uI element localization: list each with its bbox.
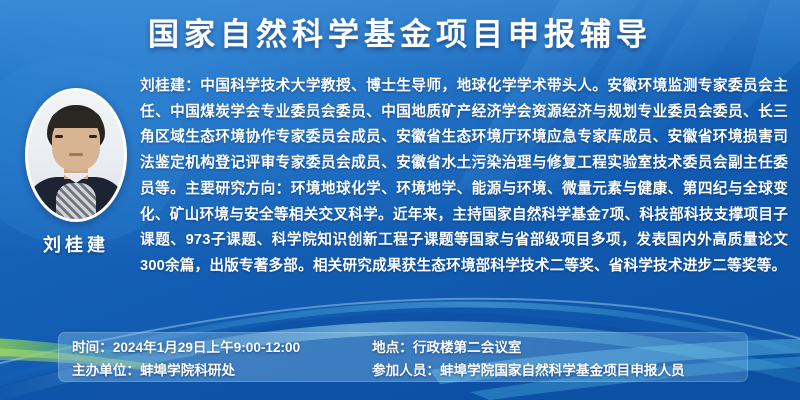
event-participants: 参加人员：蚌埠学院国家自然科学基金项目申报人员: [372, 359, 685, 379]
avatar: [25, 88, 127, 222]
portrait-shirt: [56, 183, 96, 222]
poster-title-band: 国家自然科学基金项目申报辅导: [0, 0, 800, 68]
event-participants-value: 蚌埠学院国家自然科学基金项目申报人员: [440, 363, 685, 378]
portrait-eye-right: [89, 135, 97, 138]
speaker-block: 刘桂建: [17, 88, 135, 257]
speaker-bio: 刘桂建：中国科学技术大学教授、博士生导师，地球化学学术带头人。安徽环境监测专家委…: [140, 74, 788, 280]
event-time-value: 2024年1月29日上午9:00-12:00: [113, 340, 300, 355]
page-title: 国家自然科学基金项目申报辅导: [148, 19, 652, 50]
event-participants-label: 参加人员：: [372, 363, 440, 378]
poster-canvas: 国家自然科学基金项目申报辅导 刘桂建 刘桂建：中国科学技术大学教授、博士生导师，…: [0, 0, 800, 400]
event-time-label: 时间：: [72, 340, 113, 355]
portrait-fringe: [50, 111, 102, 128]
event-organizer-label: 主办单位：: [72, 363, 140, 378]
event-organizer-value: 蚌埠学院科研处: [140, 363, 235, 378]
info-row-time: 时间：2024年1月29日上午9:00-12:00 地点：行政楼第二会议室: [72, 334, 748, 357]
portrait-mouth: [69, 153, 83, 156]
event-info-panel: 时间：2024年1月29日上午9:00-12:00 地点：行政楼第二会议室 主办…: [58, 332, 748, 382]
event-place-value: 行政楼第二会议室: [413, 340, 522, 355]
event-time: 时间：2024年1月29日上午9:00-12:00: [72, 336, 372, 356]
event-place: 地点：行政楼第二会议室: [372, 336, 522, 356]
event-place-label: 地点：: [372, 340, 413, 355]
speaker-name: 刘桂建: [43, 231, 109, 257]
info-row-organizer: 主办单位：蚌埠学院科研处 参加人员：蚌埠学院国家自然科学基金项目申报人员: [72, 357, 748, 380]
portrait-eye-left: [55, 135, 63, 138]
event-organizer: 主办单位：蚌埠学院科研处: [72, 359, 372, 379]
